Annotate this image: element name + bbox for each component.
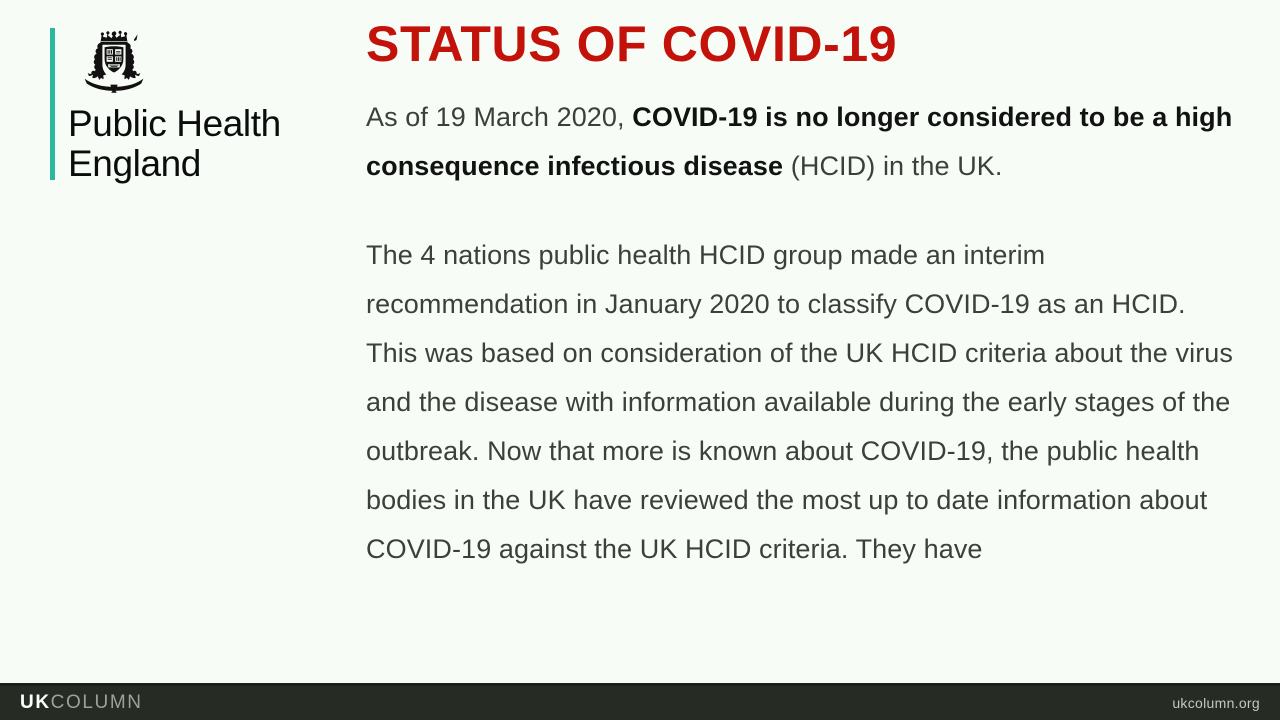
ukcolumn-wordmark-light: COLUMN [51,692,143,713]
logo-body: Public Health England [68,28,338,184]
page-title: STATUS OF COVID-19 [366,18,1236,71]
footer-bar: UKCOLUMN ukcolumn.org [0,683,1280,720]
royal-coat-of-arms-icon [72,28,156,94]
logo-accent-rule [50,28,55,180]
organisation-name: Public Health England [68,104,338,184]
ukcolumn-wordmark-strong: UK [20,692,51,713]
slide-canvas: Public Health England STATUS OF COVID-19… [0,0,1280,720]
body-paragraph: The 4 nations public health HCID group m… [366,231,1236,574]
ukcolumn-wordmark: UKCOLUMN [20,692,143,714]
lede-prefix: As of 19 March 2020, [366,102,632,132]
lede-suffix: (HCID) in the UK. [783,151,1002,181]
lede-paragraph: As of 19 March 2020, COVID-19 is no long… [366,93,1236,191]
footer-website-url: ukcolumn.org [1172,695,1260,711]
public-health-england-logo: Public Health England [40,28,340,188]
slide-content: STATUS OF COVID-19 As of 19 March 2020, … [366,18,1236,574]
